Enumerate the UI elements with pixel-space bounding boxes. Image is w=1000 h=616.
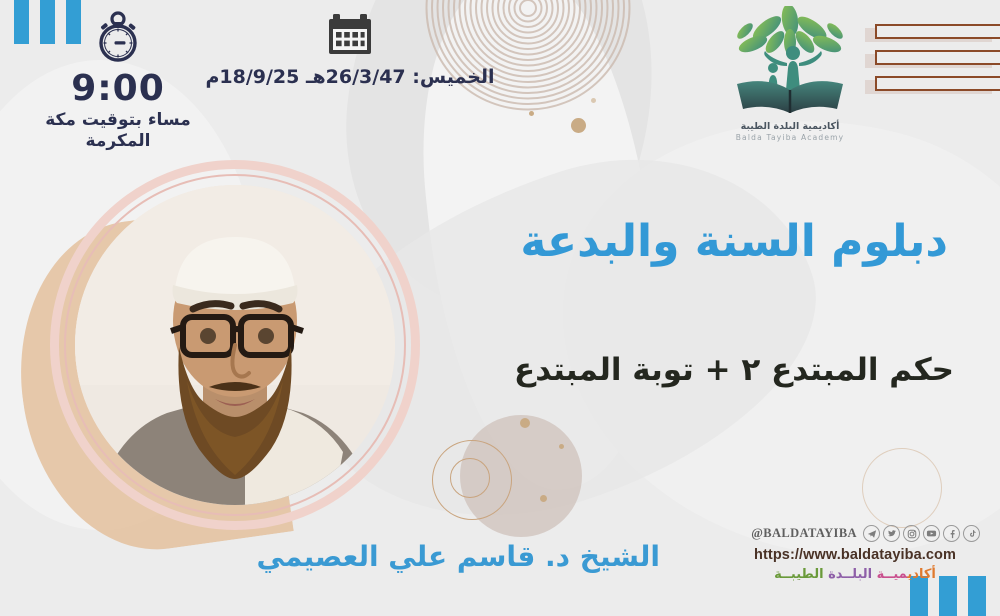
telegram-icon[interactable] xyxy=(863,525,880,542)
decor-ring-small xyxy=(450,458,490,498)
footer-name-part: ميــة xyxy=(877,567,908,582)
blue-bars-bottom-right xyxy=(910,576,986,616)
instagram-icon[interactable] xyxy=(903,525,920,542)
stripe-edge xyxy=(875,24,1000,39)
stripe-edge xyxy=(875,76,1000,91)
social-links-row: @BALDATAYIBA xyxy=(730,525,980,542)
social-handle: @BALDATAYIBA xyxy=(751,526,857,541)
stripe-bar xyxy=(865,24,1000,40)
page-title: دبلوم السنة والبدعة xyxy=(520,216,948,267)
event-date-value: الخميس: 26/3/47هـ 18/9/25م xyxy=(205,66,495,88)
facebook-icon[interactable] xyxy=(943,525,960,542)
event-time-note: مساء بتوقيت مكة المكرمة xyxy=(28,110,208,153)
speaker-portrait xyxy=(30,150,420,540)
stripe-bar xyxy=(865,50,1000,66)
poster-canvas: 9:00 مساء بتوقيت مكة المكرمة xyxy=(0,0,1000,616)
bar-segment xyxy=(939,576,957,616)
lesson-subtitle: حكم المبتدع ٢ + توبة المبتدع xyxy=(514,352,954,388)
stripe-edge xyxy=(875,50,1000,65)
decor-dot xyxy=(540,495,547,502)
youtube-icon[interactable] xyxy=(923,525,940,542)
stopwatch-icon xyxy=(28,10,208,68)
footer-name-part: الطيبــة xyxy=(774,567,828,582)
bar-segment xyxy=(968,576,986,616)
footer-academy-name: أكاديميــة البلــدة الطيبــة xyxy=(730,567,980,582)
twitter-icon[interactable] xyxy=(883,525,900,542)
decor-dot xyxy=(571,118,586,133)
academy-logo: أكاديمية البلدة الطيبة Balda Tayiba Acad… xyxy=(705,6,875,142)
decor-dot xyxy=(529,111,534,116)
calendar-icon xyxy=(205,12,495,60)
decor-dot xyxy=(591,98,596,103)
portrait-photo xyxy=(75,185,395,505)
decor-dot xyxy=(559,444,564,449)
logo-name-ar: أكاديمية البلدة الطيبة xyxy=(705,121,875,132)
speaker-name: الشيخ د. قاسم علي العصيمي xyxy=(257,540,660,573)
bar-segment xyxy=(14,0,29,44)
website-url[interactable]: https://www.baldatayiba.com xyxy=(730,547,980,563)
tree-book-logo-icon xyxy=(705,6,875,120)
footer-name-part: أكادي xyxy=(907,567,935,582)
footer-name-part: البلــدة xyxy=(828,567,877,582)
event-date-block: الخميس: 26/3/47هـ 18/9/25م xyxy=(205,12,495,88)
event-time-value: 9:00 xyxy=(28,70,208,108)
logo-name-en: Balda Tayiba Academy xyxy=(705,133,875,142)
bar-segment xyxy=(910,576,928,616)
brown-stripes-decoration xyxy=(865,24,1000,102)
stripe-bar xyxy=(865,76,1000,92)
event-time-block: 9:00 مساء بتوقيت مكة المكرمة xyxy=(28,10,208,152)
footer-contact: @BALDATAYIBA https://www.baldatayiba.com… xyxy=(730,525,980,582)
tiktok-icon[interactable] xyxy=(963,525,980,542)
decor-ring-right xyxy=(862,448,942,528)
decor-dot xyxy=(520,418,530,428)
